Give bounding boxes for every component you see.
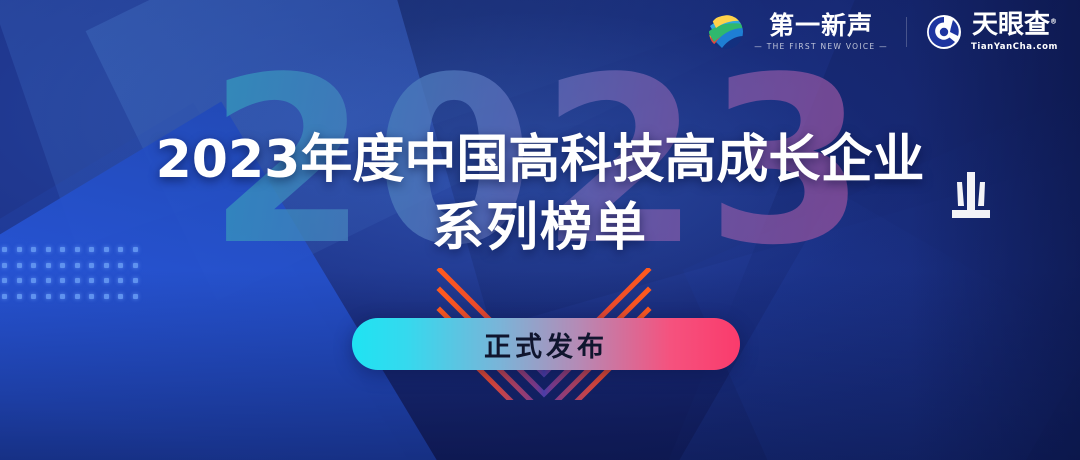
headline-line-1: 2023年度中国高科技高成长企业 [0,134,1080,186]
logo-bar: 第一新声 — THE FIRST NEW VOICE — 天眼查® TianYa… [706,12,1058,52]
grid-dot [75,263,80,268]
release-cta-label: 正式发布 [484,325,608,364]
eye-shutter-logo-icon [925,13,963,51]
logo-tianyancha-name-text: 天眼查 [972,10,1050,40]
grid-dot [2,278,7,283]
grid-dot [31,294,36,299]
logo-trademark-mark: ® [1050,18,1057,26]
release-cta-button[interactable]: 正式发布 [352,318,740,370]
grid-dot [104,263,109,268]
grid-dot [60,278,65,283]
grid-dot [31,278,36,283]
grid-dot [133,278,138,283]
logo-diyixinsheng[interactable]: 第一新声 — THE FIRST NEW VOICE — [706,12,888,52]
grid-dot [89,294,94,299]
grid-dot [46,278,51,283]
grid-dot [31,263,36,268]
grid-dot [133,294,138,299]
logo-diyixinsheng-name: 第一新声 [769,13,873,39]
logo-diyixinsheng-text: 第一新声 — THE FIRST NEW VOICE — [754,13,888,50]
grid-dot [75,278,80,283]
grid-dot [60,294,65,299]
grid-dot [118,263,123,268]
grid-dot [17,278,22,283]
grid-dot [104,278,109,283]
ribbon-sphere-logo-icon [706,12,746,52]
logo-tianyancha[interactable]: 天眼查® TianYanCha.com [925,12,1058,51]
headline-block: 2023年度中国高科技高成长企业 系列榜单 [0,134,1080,254]
grid-dot [89,278,94,283]
grid-dot [17,263,22,268]
logo-tianyancha-name: 天眼查® [972,12,1057,39]
grid-dot [89,263,94,268]
dot-grid-decoration [2,247,147,309]
grid-dot [133,263,138,268]
grid-dot [2,294,7,299]
poster-banner: 2023 [0,0,1080,460]
grid-dot [60,263,65,268]
logo-tianyancha-text: 天眼查® TianYanCha.com [971,12,1058,51]
grid-dot [118,294,123,299]
grid-dot [46,263,51,268]
logo-diyixinsheng-tagline: — THE FIRST NEW VOICE — [754,42,888,51]
grid-dot [75,294,80,299]
grid-dot [17,294,22,299]
logo-divider [906,17,907,47]
grid-dot [118,278,123,283]
grid-dot [104,294,109,299]
grid-dot [46,294,51,299]
grid-dot [2,263,7,268]
headline-line-2: 系列榜单 [0,202,1080,254]
logo-tianyancha-tagline: TianYanCha.com [971,42,1058,52]
